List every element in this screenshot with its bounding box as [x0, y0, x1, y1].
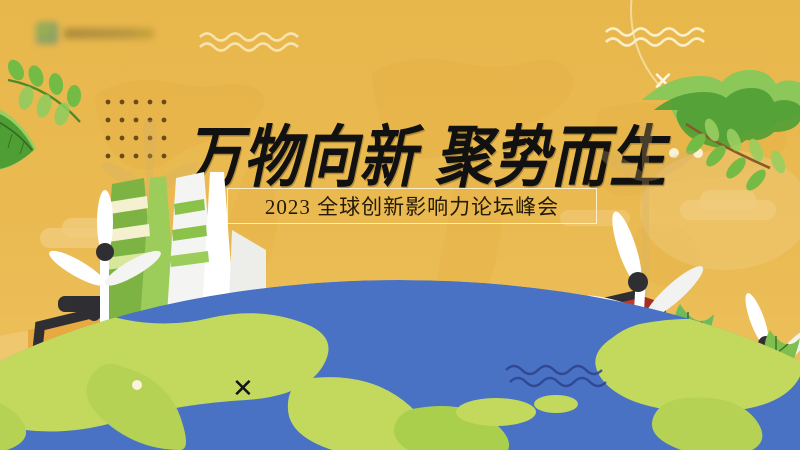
map-dot-marker [132, 380, 142, 390]
poster-canvas: ✕ [0, 0, 800, 450]
earth-globe [0, 220, 800, 450]
cross-mark-ocean-icon: ✕ [232, 375, 254, 401]
